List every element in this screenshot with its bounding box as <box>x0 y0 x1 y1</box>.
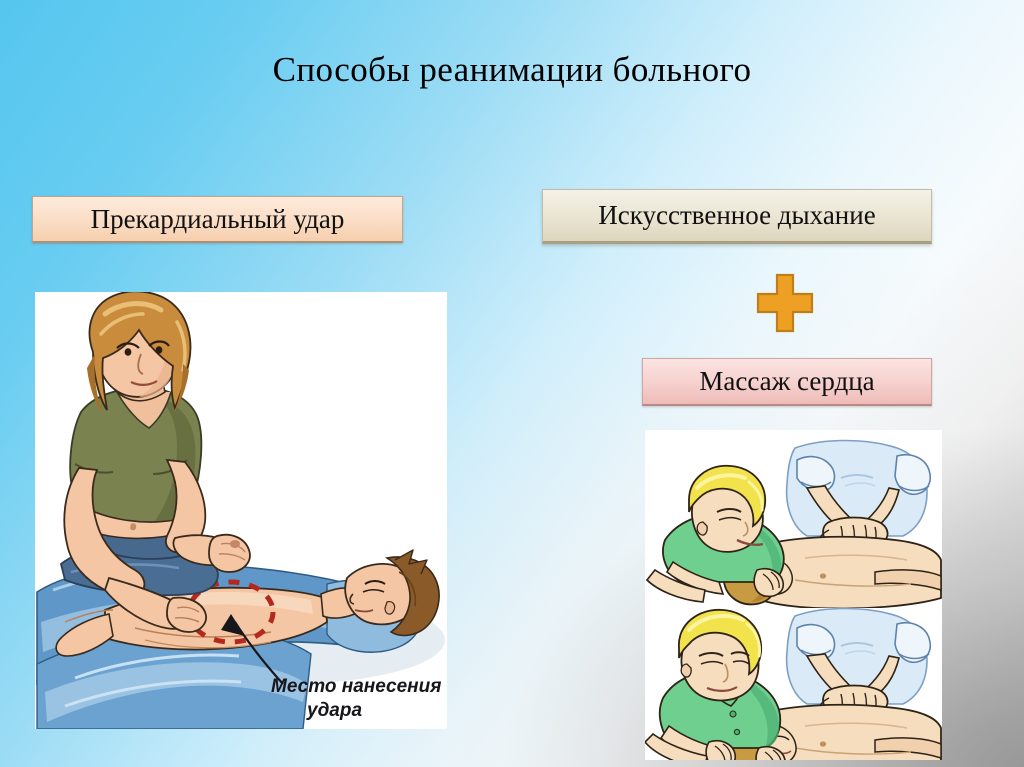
label-artificial-respiration-text: Искусственное дыхание <box>598 200 875 231</box>
label-precordial-thump: Прекардиальный удар <box>32 196 403 243</box>
cpr-illustrations <box>645 430 942 760</box>
label-precordial-thump-text: Прекардиальный удар <box>91 204 345 235</box>
label-heart-massage-text: Массаж сердца <box>699 366 874 397</box>
impact-caption-line2: удара <box>306 700 362 721</box>
label-artificial-respiration: Искусственное дыхание <box>542 189 932 244</box>
cpr-image-panel <box>645 430 942 760</box>
precordial-thump-image-panel: Место нанесения удара <box>35 292 447 729</box>
slide-canvas: Способы реанимации больного Прекардиальн… <box>0 0 1024 767</box>
label-heart-massage: Массаж сердца <box>642 358 932 406</box>
precordial-thump-illustration: Место нанесения удара <box>35 292 447 729</box>
page-title: Способы реанимации больного <box>0 50 1024 90</box>
cpr-illustration-compression <box>645 609 941 761</box>
impact-caption-line1: Место нанесения <box>271 676 441 697</box>
plus-icon <box>755 272 815 334</box>
